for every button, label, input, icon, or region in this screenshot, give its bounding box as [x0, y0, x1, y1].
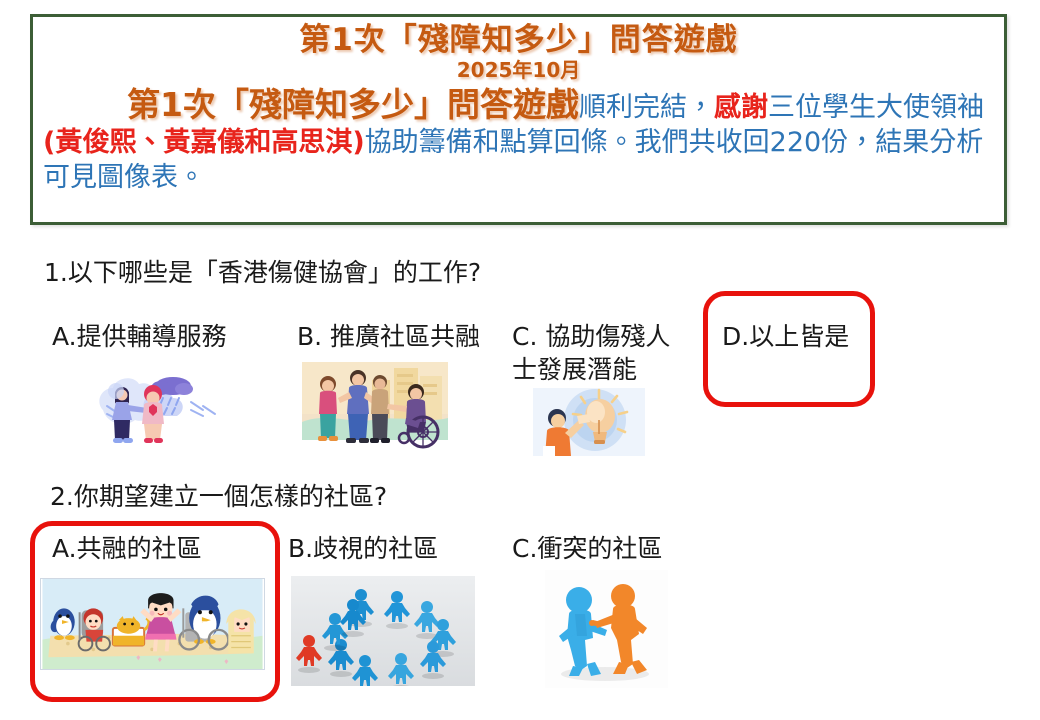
announcement-body-names: (黃俊熙、黃嘉儀和高思淇): [43, 127, 365, 158]
conflict-figures-photo: [545, 570, 668, 688]
announcement-title: 第1次「殘障知多少」問答遊戲: [43, 23, 994, 58]
community-inclusion-illustration: [302, 362, 448, 450]
inclusive-cartoon-illustration: [40, 578, 265, 670]
question-2-text: 2.你期望建立一個怎樣的社區?: [50, 477, 387, 513]
announcement-body-segment-2: 三位學生大使領袖: [768, 92, 984, 123]
announcement-body-thanks: 感謝: [714, 92, 768, 123]
announcement-box: 第1次「殘障知多少」問答遊戲 2025年10月 第1次「殘障知多少」問答遊戲順利…: [30, 14, 1007, 225]
lightbulb-idea-illustration: [533, 388, 645, 456]
exclusion-figures-photo: [291, 576, 475, 686]
announcement-body-segment-1: 順利完結，: [579, 92, 714, 123]
q2-option-b-label: B.歧視的社區: [288, 532, 438, 565]
question-1-text: 1.以下哪些是「香港傷健協會」的工作?: [44, 253, 481, 289]
announcement-body-highlight-title: 第1次「殘障知多少」問答遊戲: [127, 85, 579, 124]
announcement-subtitle: 2025年10月: [43, 59, 994, 82]
q1-option-c-label: C. 協助傷殘人士發展潛能: [512, 320, 687, 386]
q1-option-b-label: B. 推廣社區共融: [297, 320, 480, 353]
q1-option-a-label: A.提供輔導服務: [52, 320, 227, 353]
q1-option-d-highlight-box: [703, 291, 875, 407]
q2-option-c-label: C.衝突的社區: [512, 532, 662, 565]
announcement-body: 第1次「殘障知多少」問答遊戲順利完結，感謝三位學生大使領袖(黃俊熙、黃嘉儀和高思…: [43, 84, 994, 195]
counselling-illustration: [85, 358, 225, 456]
